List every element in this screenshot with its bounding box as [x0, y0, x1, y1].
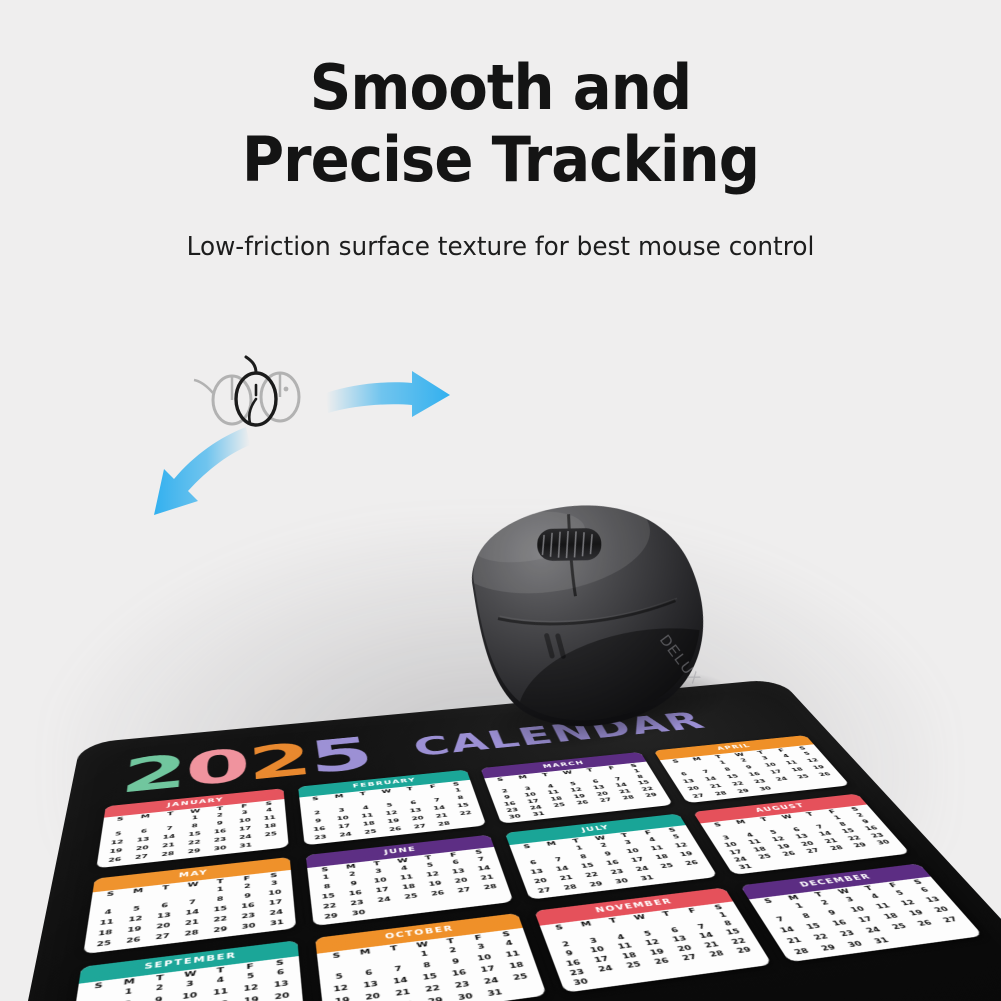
date-cell: 29	[811, 941, 845, 956]
date-cell: 15	[413, 970, 445, 986]
weekday-header: M	[113, 977, 144, 988]
date-cell-empty	[621, 968, 654, 982]
date-cell: 13	[444, 866, 473, 878]
date-cell-empty	[574, 926, 605, 938]
weekday-header: S	[753, 897, 783, 906]
month-header: NOVEMBER	[534, 887, 733, 925]
date-cell-empty	[682, 866, 712, 878]
week-row: 20212223242526	[526, 857, 707, 887]
date-cell: 6	[441, 857, 469, 869]
date-cell: 27	[933, 913, 967, 927]
date-cell: 1	[206, 883, 233, 896]
date-cell: 27	[406, 821, 433, 832]
date-cell: 16	[341, 887, 370, 900]
date-cell: 16	[557, 957, 589, 970]
weekday-header: W	[407, 940, 437, 950]
date-cell: 3	[465, 940, 496, 955]
date-cell: 20	[668, 942, 700, 955]
date-cell: 2	[550, 939, 581, 952]
date-cell: 5	[632, 928, 663, 940]
weekday-header: F	[440, 851, 467, 859]
date-cell: 11	[204, 985, 235, 1001]
date-cell-empty	[398, 900, 427, 913]
date-cell: 10	[581, 944, 613, 957]
date-cell-empty	[546, 930, 577, 942]
weekday-header: S	[321, 951, 351, 962]
date-cell: 17	[585, 953, 617, 966]
date-cell: 21	[177, 916, 206, 930]
date-cell: 27	[147, 930, 177, 944]
date-cell: 22	[722, 935, 754, 948]
date-cell-empty	[657, 869, 687, 881]
date-cell: 11	[609, 940, 641, 953]
date-cell: 21	[695, 939, 727, 952]
date-cell: 22	[205, 913, 233, 927]
date-cell: 28	[154, 849, 181, 861]
weekday-header: M	[337, 863, 364, 872]
week-row: 28293031	[784, 924, 976, 960]
week-row: 23242526272829	[561, 944, 761, 980]
month-card: NOVEMBERSMTWTFS1234567891011121314151617…	[534, 887, 772, 992]
date-cell: 23	[602, 866, 632, 878]
date-cell-empty	[757, 903, 789, 916]
date-cell: 4	[205, 973, 235, 989]
date-cell: 19	[235, 993, 266, 1001]
weekday-header: S	[903, 878, 933, 887]
date-cell: 24	[262, 906, 291, 919]
weekday-header: S	[544, 923, 574, 933]
month-date-grid: SMTWTFS123456789101112131415161718192021…	[311, 848, 508, 923]
date-cell: 30	[838, 938, 872, 953]
week-row: 567891011	[323, 947, 528, 985]
date-cell-empty	[425, 897, 455, 910]
date-cell: 20	[446, 875, 475, 887]
week-row: 18192021222324	[89, 906, 290, 940]
date-cell: 4	[605, 932, 636, 944]
date-cell: 8	[206, 893, 234, 906]
weekday-header: W	[174, 969, 204, 980]
date-cell: 14	[690, 930, 722, 942]
date-cell: 11	[496, 947, 528, 962]
week-row: 19202122232425	[326, 970, 537, 1001]
date-cell: 1	[707, 909, 738, 921]
month-date-grid: SMTWTFS123456789101112131415161718192021…	[72, 958, 300, 1001]
date-cell: 12	[891, 897, 924, 910]
week-row: 123456	[80, 965, 295, 1001]
date-cell: 5	[416, 860, 444, 872]
date-cell: 3	[260, 877, 288, 890]
date-cell-empty	[641, 797, 668, 806]
date-cell: 14	[770, 923, 803, 937]
month-header: MAY	[92, 857, 290, 892]
date-cell: 30	[206, 843, 232, 855]
date-cell: 13	[265, 977, 296, 993]
date-cell: 22	[804, 930, 838, 944]
weekday-header: T	[435, 937, 465, 947]
date-cell: 8	[790, 910, 823, 924]
date-cell: 4	[859, 890, 892, 903]
date-cell: 20	[266, 989, 298, 1001]
month-card: MAYSMTWTFS123456789101112131415161718192…	[83, 857, 296, 954]
date-cell: 24	[369, 894, 398, 907]
date-cell: 4	[390, 863, 418, 875]
date-cell: 18	[613, 950, 645, 963]
month-body: SMTWTFS123456789101112131415161718192021…	[83, 870, 296, 954]
month-body: SMTWTFS123456789101112131415161718192021…	[307, 847, 513, 926]
week-row: 14151617181920	[76, 989, 297, 1001]
date-cell: 6	[265, 965, 296, 980]
date-cell: 5	[235, 969, 265, 985]
weekday-header: S	[491, 930, 521, 940]
date-cell: 10	[173, 988, 204, 1001]
week-row: 11121314151617	[91, 896, 289, 929]
weekday-header: T	[651, 910, 681, 920]
date-cell-empty	[371, 903, 400, 916]
date-cell: 29	[316, 910, 345, 924]
date-cell: 24	[627, 863, 657, 875]
date-cell-empty	[572, 805, 599, 814]
date-cell: 15	[314, 890, 342, 903]
date-cell: 30	[564, 976, 597, 990]
date-cell: 19	[671, 849, 701, 861]
date-cell-empty	[733, 954, 766, 967]
week-row: 123456	[757, 884, 941, 916]
date-cell: 18	[89, 926, 120, 940]
date-cell: 3	[364, 865, 392, 877]
date-cell-empty	[601, 923, 632, 935]
date-cell: 27	[127, 851, 154, 863]
date-cell-empty	[593, 972, 626, 986]
date-cell: 11	[392, 872, 420, 884]
date-cell: 8	[110, 996, 143, 1001]
date-cell: 10	[261, 887, 289, 900]
date-cell-empty	[178, 887, 206, 900]
date-cell-empty	[681, 913, 712, 925]
date-cell: 28	[700, 948, 733, 961]
weekday-header: M	[779, 894, 809, 903]
weekday-header: M	[571, 920, 601, 930]
weekday-header: T	[804, 891, 834, 900]
date-cell: 21	[551, 872, 581, 884]
date-cell: 23	[234, 910, 262, 924]
date-cell-empty	[705, 957, 738, 970]
date-cell-empty	[916, 927, 951, 941]
date-cell: 1	[312, 871, 340, 883]
date-cell: 8	[313, 881, 341, 894]
date-cell: 30	[448, 989, 481, 1001]
week-row: 30	[564, 954, 766, 990]
date-cell: 18	[874, 910, 908, 924]
month-body: SMTWTFS123456789101112131415161718192021…	[67, 956, 305, 1001]
date-cell: 13	[663, 933, 695, 946]
date-cell: 26	[677, 857, 707, 869]
date-cell-empty	[618, 800, 645, 809]
date-cell-empty	[549, 807, 576, 816]
date-cell: 19	[641, 946, 673, 959]
date-cell: 25	[504, 970, 537, 986]
date-cell: 29	[581, 878, 611, 891]
weekday-header-row: SMTWTFS	[753, 878, 932, 906]
date-cell-empty	[515, 848, 543, 860]
weekday-header: F	[677, 906, 707, 916]
month-body: SMTWTFS123456789101112131415161718192021…	[539, 901, 771, 992]
date-cell: 24	[589, 963, 621, 976]
date-cell: 14	[547, 863, 576, 875]
date-cell: 28	[784, 945, 818, 960]
date-cell: 20	[526, 875, 556, 887]
date-cell-empty	[678, 961, 711, 974]
year-digit-1: 2	[118, 750, 186, 799]
month-card: MARCHSMTWTFS1234567891011121314151617181…	[480, 752, 673, 824]
date-cell: 16	[598, 857, 627, 869]
date-cell: 11	[91, 916, 121, 930]
date-cell: 31	[478, 985, 511, 1001]
month-body: SMTWTFS123456789101112131415161718192021…	[748, 877, 982, 963]
date-cell: 1	[111, 984, 143, 1000]
date-cell: 26	[645, 955, 678, 968]
date-cell: 12	[120, 913, 150, 927]
month-date-grid: SMTWTFS123456789101112131415161718192021…	[753, 878, 977, 959]
weekday-header: T	[144, 973, 175, 984]
date-cell: 17	[471, 962, 503, 977]
date-cell: 31	[731, 862, 761, 873]
date-cell: 2	[808, 897, 841, 910]
date-cell-empty	[942, 924, 977, 938]
date-cell: 10	[841, 903, 874, 916]
date-cell: 4	[92, 906, 122, 919]
month-card: DECEMBERSMTWTFS1234567891011121314151617…	[740, 863, 983, 962]
date-cell: 9	[142, 992, 174, 1001]
date-cell: 16	[233, 900, 261, 913]
date-cell: 30	[234, 920, 263, 934]
date-cell: 8	[712, 918, 744, 930]
date-cell: 23	[342, 897, 371, 910]
date-cell-empty	[654, 916, 685, 928]
month-date-grid: SMTWTFS123456789101112131415161718192021…	[544, 903, 766, 990]
weekday-header: T	[205, 965, 235, 976]
date-cell-empty	[80, 988, 113, 1001]
week-row: 1234567	[312, 854, 495, 884]
weekday-header: M	[123, 887, 151, 896]
weekday-header: W	[389, 857, 416, 866]
month-card: JUNESMTWTFS12345678910111213141516171819…	[305, 835, 513, 926]
date-cell: 3	[834, 893, 867, 906]
date-cell: 31	[262, 916, 291, 930]
date-cell: 6	[519, 857, 548, 869]
date-cell: 4	[493, 936, 525, 950]
date-cell-empty	[595, 802, 622, 811]
week-row: 45678910	[92, 887, 288, 920]
date-cell: 30	[344, 907, 373, 920]
month-card: AUGUSTSMTWTFS123456789101112131415161718…	[692, 794, 909, 875]
date-cell: 7	[544, 854, 573, 866]
date-cell-empty	[351, 954, 382, 969]
date-cell: 31	[632, 872, 662, 884]
year-digit-4: 5	[306, 733, 374, 779]
date-cell: 31	[232, 840, 258, 851]
date-cell-empty	[122, 893, 151, 906]
date-cell: 11	[866, 900, 899, 913]
week-row: 25262728293031	[88, 916, 291, 951]
date-cell: 20	[356, 989, 388, 1001]
date-cell: 1	[408, 947, 439, 962]
date-cell: 19	[420, 878, 449, 891]
week-row: 2930	[316, 891, 508, 924]
weekday-header: F	[463, 933, 493, 943]
date-cell: 14	[469, 863, 498, 875]
date-cell: 14	[177, 906, 205, 919]
date-cell: 15	[717, 927, 749, 939]
date-cell: 10	[366, 875, 394, 887]
date-cell: 20	[148, 920, 177, 934]
date-cell: 28	[475, 881, 504, 894]
week-row: 891011121314	[313, 863, 498, 894]
date-cell: 24	[856, 924, 890, 938]
date-cell-empty	[322, 958, 353, 973]
weekday-header: S	[264, 958, 294, 969]
date-cell-empty	[507, 982, 540, 998]
date-cell: 17	[848, 913, 882, 927]
week-row: 78910111213	[764, 894, 950, 927]
date-cell: 18	[204, 997, 235, 1001]
date-cell: 19	[899, 907, 933, 920]
month-card: JULYSMTWTFS12345678910111213141516171819…	[504, 814, 717, 900]
week-row: 12131415161718	[325, 958, 533, 997]
weekday-header-row: SMTWTFS	[82, 958, 295, 992]
date-cell: 19	[119, 923, 149, 937]
date-cell: 9	[593, 848, 622, 860]
date-cell: 14	[384, 973, 416, 989]
month-header: SEPTEMBER	[78, 940, 298, 984]
week-row: 21222324252627	[777, 913, 967, 948]
date-cell: 20	[925, 903, 959, 916]
date-cell: 25	[357, 827, 383, 838]
date-cell: 23	[307, 832, 333, 843]
date-cell: 17	[367, 884, 396, 897]
date-cell-empty	[755, 859, 785, 869]
date-cell-empty	[258, 837, 284, 848]
date-cell: 8	[411, 958, 443, 973]
weekday-header-row: SMTWTFS	[321, 930, 521, 962]
date-cell-empty	[452, 894, 482, 907]
date-cell: 30	[501, 812, 527, 821]
date-cell: 29	[180, 846, 206, 858]
weekday-header: S	[703, 903, 733, 913]
date-cell: 28	[176, 927, 205, 941]
date-cell-empty	[478, 891, 508, 904]
date-cell: 6	[353, 966, 384, 981]
date-cell: 15	[206, 903, 234, 916]
date-cell: 15	[797, 920, 830, 934]
weekday-header: W	[625, 913, 655, 923]
subheadline: Low-friction surface texture for best mo…	[25, 232, 976, 262]
date-cell: 22	[416, 981, 449, 997]
date-cell: 5	[121, 903, 150, 916]
weekday-header: T	[151, 884, 179, 893]
date-cell: 9	[553, 948, 585, 961]
week-row: 22232425262728	[315, 881, 505, 913]
date-cell: 12	[325, 981, 357, 997]
date-cell-empty	[455, 816, 482, 827]
date-cell: 24	[332, 829, 358, 840]
date-cell: 25	[652, 860, 682, 872]
weekday-header: F	[233, 875, 260, 884]
date-cell: 31	[525, 810, 552, 819]
weekday-header-row: SMTWTFS	[544, 903, 733, 933]
week-row: 78910111213	[78, 977, 296, 1001]
date-cell: 9	[233, 890, 261, 903]
weekday-header: M	[350, 947, 380, 958]
date-cell: 25	[88, 937, 119, 952]
date-cell: 5	[883, 887, 916, 900]
week-row: 14151617181920	[770, 903, 958, 937]
date-cell: 28	[555, 881, 585, 894]
headline-line-1: Smooth and	[35, 52, 966, 124]
date-cell: 7	[764, 913, 797, 927]
date-cell: 24	[475, 974, 508, 990]
weekday-header: T	[363, 860, 390, 869]
date-cell: 2	[233, 880, 260, 893]
weekday-header-row: SMTWTFS	[95, 872, 286, 900]
date-cell: 28	[388, 997, 421, 1001]
weekday-header: T	[598, 916, 628, 926]
date-cell: 6	[908, 884, 941, 897]
month-date-grid: SMTWTFS123456789101112131415161718192021…	[321, 930, 541, 1001]
date-cell: 21	[777, 934, 811, 948]
weekday-header: S	[311, 866, 338, 875]
week-row: 262728293031	[327, 982, 540, 1001]
date-cell: 16	[443, 966, 475, 981]
date-cell: 12	[235, 981, 266, 997]
date-cell: 13	[916, 894, 949, 907]
date-cell: 3	[577, 935, 608, 948]
date-cell-empty	[890, 931, 925, 945]
weekday-header: S	[82, 981, 114, 992]
weekday-header: T	[206, 878, 233, 887]
date-cell: 18	[500, 958, 532, 973]
date-cell: 28	[430, 819, 457, 830]
headline-block: Smooth and Precise Tracking	[0, 52, 1001, 196]
weekday-header: F	[235, 962, 265, 973]
date-cell: 31	[864, 934, 899, 948]
date-cell: 23	[561, 966, 593, 980]
date-cell-empty	[94, 896, 123, 909]
date-cell-empty	[650, 965, 683, 979]
week-row: 1	[546, 909, 738, 942]
date-cell: 8	[569, 851, 598, 863]
date-cell: 12	[418, 869, 446, 881]
date-cell: 21	[386, 985, 418, 1001]
date-cell-empty	[380, 951, 411, 966]
week-row: 2728293031	[529, 866, 712, 897]
date-cell: 26	[117, 933, 147, 947]
month-header: DECEMBER	[740, 863, 931, 899]
date-cell: 9	[815, 907, 848, 920]
month-card: OCTOBERSMTWTFS12345678910111213141516171…	[315, 913, 547, 1001]
date-cell: 21	[472, 872, 501, 884]
date-cell: 13	[522, 866, 551, 878]
date-cell: 9	[440, 954, 472, 969]
date-cell: 29	[205, 923, 234, 937]
date-cell: 10	[468, 951, 500, 966]
month-header: OCTOBER	[315, 913, 523, 954]
date-cell: 19	[326, 993, 358, 1001]
date-cell: 7	[382, 962, 414, 977]
date-cell-empty	[628, 919, 659, 931]
month-card: SEPTEMBERSMTWTFS123456789101112131415161…	[67, 940, 305, 1001]
weekday-header: W	[179, 881, 206, 890]
date-cell: 7	[178, 896, 206, 909]
